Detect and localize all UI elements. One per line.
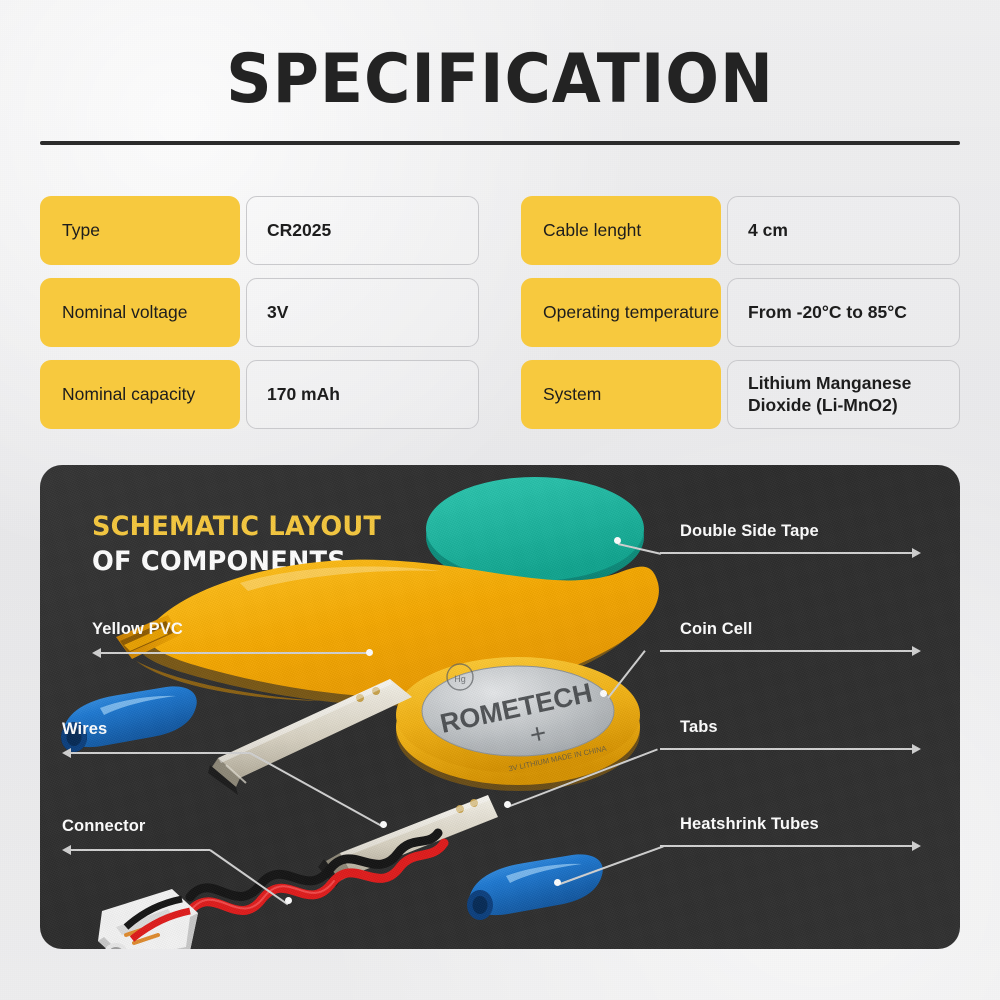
leader-arrow-coin-cell [912, 646, 921, 656]
leader-arrow-heatshrink-tubes [912, 841, 921, 851]
leader-anchor-connector [285, 897, 292, 904]
schematic-label-tabs: Tabs [680, 718, 718, 737]
schematic-label-coin-cell: Coin Cell [680, 620, 752, 639]
leader-line-connector [70, 849, 210, 851]
schematic-panel: SCHEMATIC LAYOUT OF COMPONENTS [40, 465, 960, 949]
leader-arrow-tabs [912, 744, 921, 754]
leader-line-heatshrink-tubes [660, 845, 918, 847]
schematic-label-wires: Wires [62, 720, 107, 739]
spec-label-line: voltage [131, 302, 187, 323]
spec-label-line: Nominal [62, 384, 126, 405]
leader-line-wires [70, 752, 250, 754]
component-connector [98, 889, 198, 949]
spec-label-nominal-capacity: Nominal capacity [40, 360, 240, 429]
specification-table: Type CR2025 Cable lenght 4 cm Nominal vo… [40, 196, 960, 429]
schematic-label-yellow-pvc: Yellow PVC [92, 620, 183, 639]
spec-label-line: temperature [625, 302, 719, 323]
spec-label-line: Nominal [62, 302, 126, 323]
spec-row-nominal-capacity: Nominal capacity 170 mAh [40, 360, 479, 429]
leader-line-coin-cell [660, 650, 918, 652]
spec-row-type: Type CR2025 [40, 196, 479, 265]
spec-value-type: CR2025 [246, 196, 479, 265]
spec-value-line: Lithium Manganese [748, 373, 911, 393]
exploded-view-illustration: ROMETECH + 3V LITHIUM MADE IN CHINA Hg [40, 465, 960, 949]
component-wires [190, 833, 444, 911]
spec-label-nominal-voltage: Nominal voltage [40, 278, 240, 347]
spec-label-system: System [521, 360, 721, 429]
spec-value-nominal-capacity: 170 mAh [246, 360, 479, 429]
spec-value-system: Lithium Manganese Dioxide (Li-MnO2) [727, 360, 960, 429]
page-title: SPECIFICATION [35, 46, 965, 114]
leader-anchor-coin-cell [600, 690, 607, 697]
spec-row-nominal-voltage: Nominal voltage 3V [40, 278, 479, 347]
spec-label-type: Type [40, 196, 240, 265]
spec-value-cable-length: 4 cm [727, 196, 960, 265]
leader-line-double-side-tape [660, 552, 918, 554]
spec-label-cable-length: Cable lenght [521, 196, 721, 265]
spec-label-line: capacity [131, 384, 195, 405]
schematic-label-connector: Connector [62, 817, 145, 836]
leader-line-yellow-pvc [100, 652, 370, 654]
title-divider [40, 141, 960, 145]
svg-text:Hg: Hg [454, 674, 466, 684]
schematic-label-heatshrink-tubes: Heatshrink Tubes [680, 815, 819, 834]
spec-label-line: Operating [543, 302, 620, 323]
leader-arrow-double-side-tape [912, 548, 921, 558]
spec-value-operating-temperature: From -20°C to 85°C [727, 278, 960, 347]
component-heatshrink-lower [467, 854, 603, 920]
spec-row-system: System Lithium Manganese Dioxide (Li-MnO… [521, 360, 960, 429]
leader-anchor-wires [380, 821, 387, 828]
spec-row-cable-length: Cable lenght 4 cm [521, 196, 960, 265]
leader-anchor-heatshrink-tubes [554, 879, 561, 886]
spec-value-nominal-voltage: 3V [246, 278, 479, 347]
spec-label-operating-temperature: Operating temperature [521, 278, 721, 347]
schematic-label-double-side-tape: Double Side Tape [680, 522, 819, 541]
leader-anchor-tabs [504, 801, 511, 808]
spec-row-operating-temperature: Operating temperature From -20°C to 85°C [521, 278, 960, 347]
spec-value-line: Dioxide (Li-MnO2) [748, 395, 898, 415]
leader-anchor-double-side-tape [614, 537, 621, 544]
leader-anchor-yellow-pvc [366, 649, 373, 656]
leader-line-tabs [660, 748, 918, 750]
